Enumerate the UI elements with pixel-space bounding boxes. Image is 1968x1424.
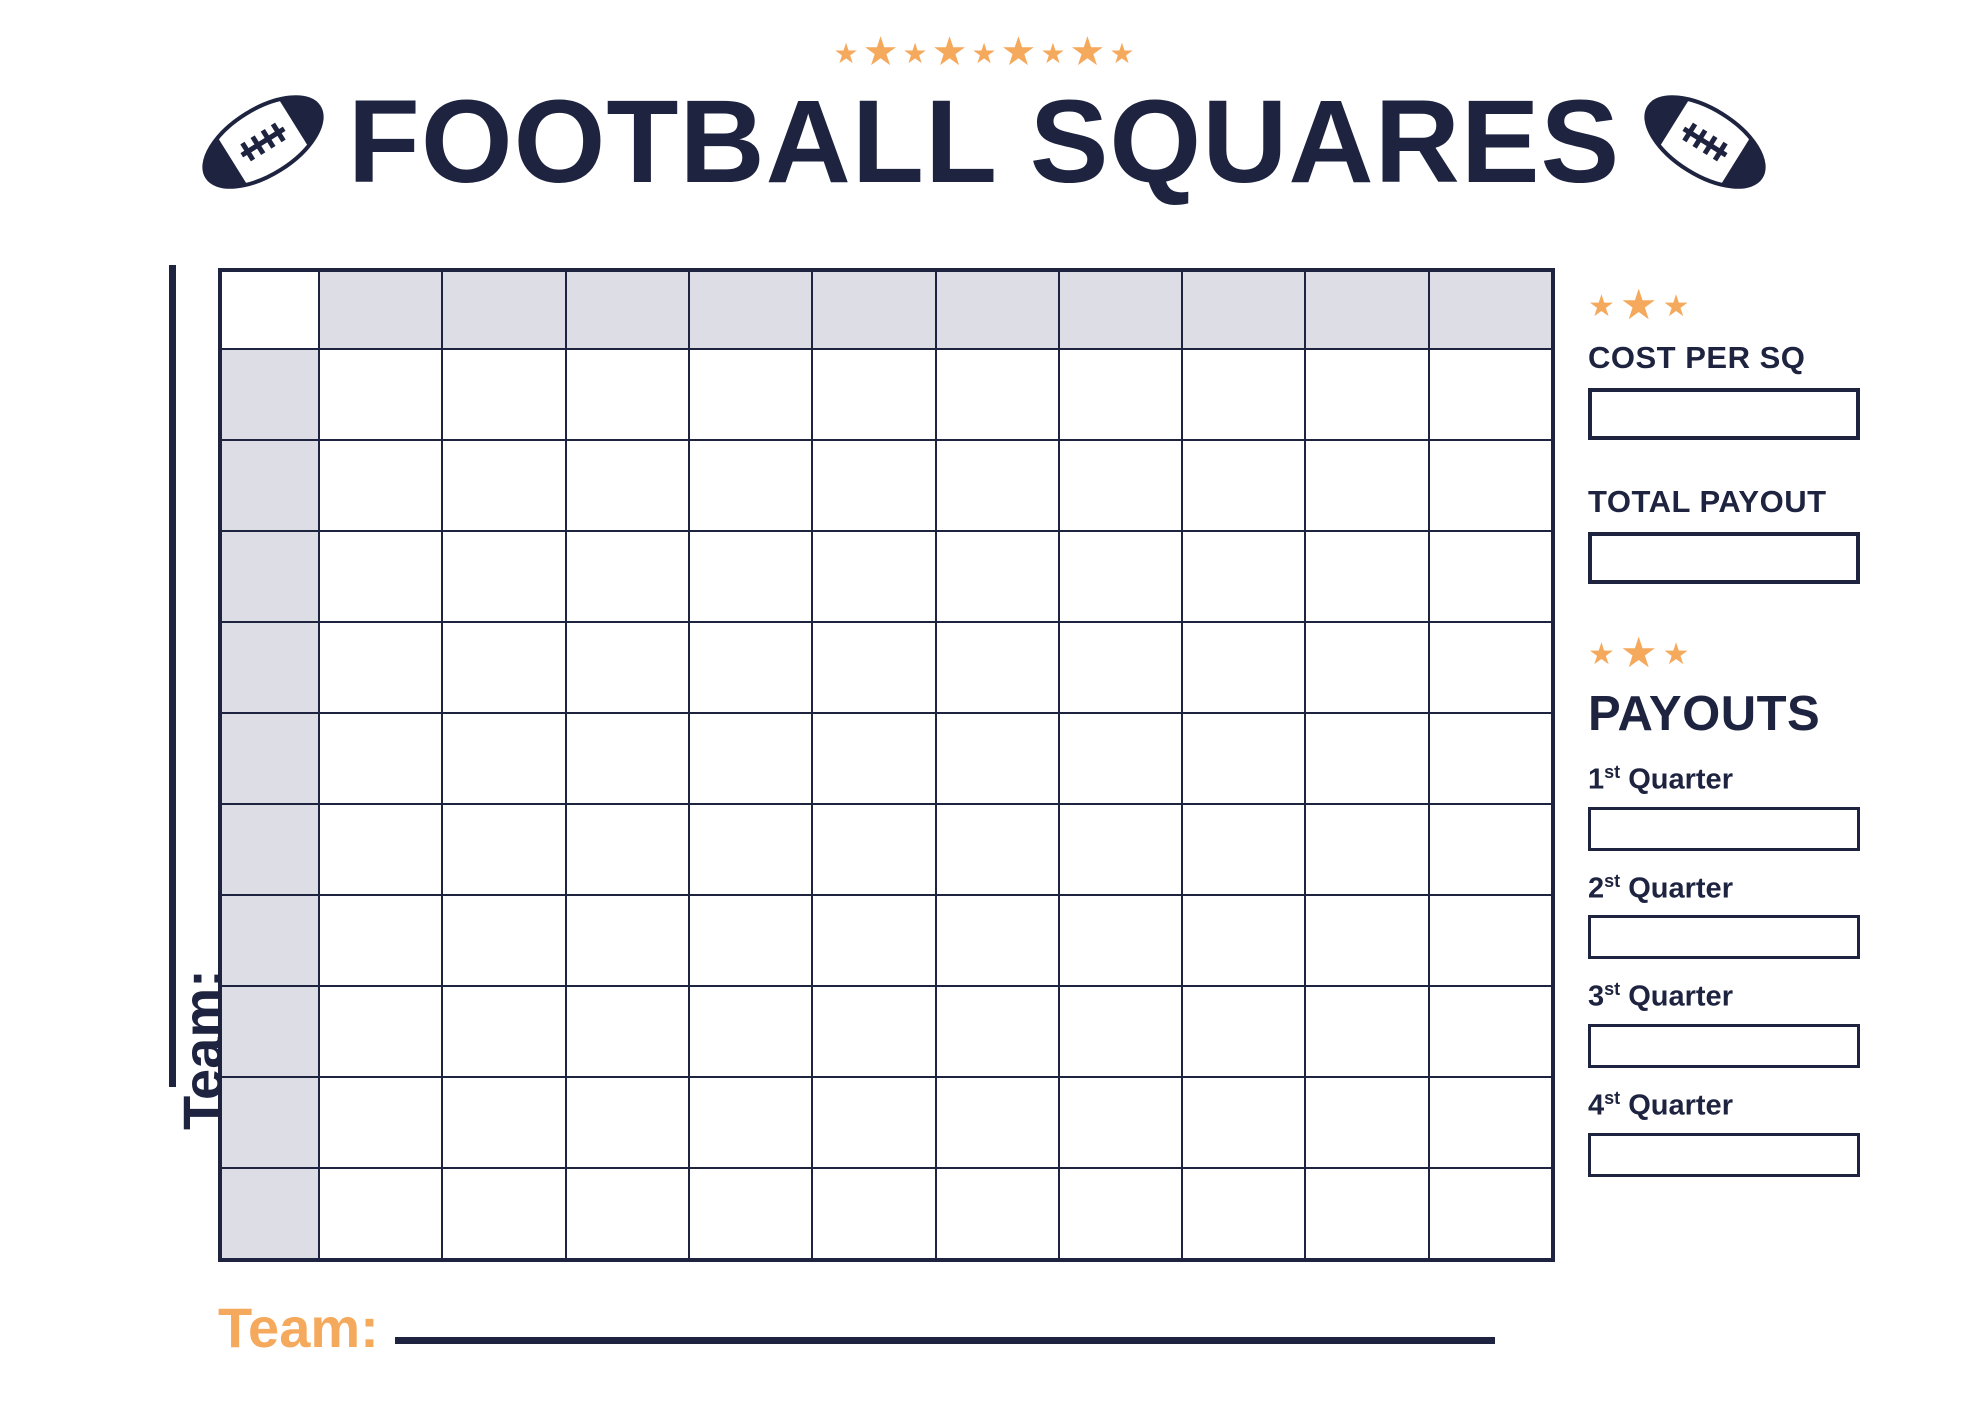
payouts-title: PAYOUTS	[1588, 688, 1888, 742]
grid-square[interactable]	[1306, 987, 1427, 1076]
grid-square[interactable]	[690, 896, 811, 985]
quarter-2-word: Quarter	[1628, 872, 1733, 904]
grid-square[interactable]	[690, 1169, 811, 1258]
team-label-bottom-row: Team:	[218, 1300, 1495, 1356]
grid-square[interactable]	[443, 805, 564, 894]
team-bottom-write-line[interactable]	[395, 1337, 1495, 1344]
grid-square[interactable]	[1183, 896, 1304, 985]
grid-square[interactable]	[567, 532, 688, 621]
star-icon: ★	[1663, 640, 1690, 670]
quarter-4-label: 4st Quarter	[1588, 1088, 1888, 1123]
grid-square[interactable]	[937, 896, 1058, 985]
grid-square[interactable]	[1306, 623, 1427, 712]
quarter-4-ordinal: st	[1604, 1088, 1620, 1108]
quarter-4-word: Quarter	[1628, 1090, 1733, 1122]
grid-square[interactable]	[690, 1078, 811, 1167]
grid-square[interactable]	[813, 714, 934, 803]
grid-square[interactable]	[567, 441, 688, 530]
quarter-2-label: 2st Quarter	[1588, 871, 1888, 906]
grid-square[interactable]	[567, 896, 688, 985]
grid-square[interactable]	[1183, 1169, 1304, 1258]
grid-square[interactable]	[1183, 714, 1304, 803]
grid-col-header[interactable]	[567, 272, 688, 348]
grid-square[interactable]	[443, 441, 564, 530]
grid-square[interactable]	[1060, 714, 1181, 803]
star-icon: ★	[1109, 40, 1134, 68]
grid-row-header[interactable]	[222, 805, 318, 894]
grid-square[interactable]	[320, 441, 441, 530]
grid-square[interactable]	[1430, 805, 1551, 894]
grid-square[interactable]	[937, 623, 1058, 712]
grid-row-header[interactable]	[222, 623, 318, 712]
grid-square[interactable]	[1060, 896, 1181, 985]
cost-per-sq-field[interactable]	[1588, 388, 1860, 440]
grid-square[interactable]	[567, 350, 688, 439]
quarter-2-number: 2	[1588, 872, 1604, 904]
star-icon: ★	[1588, 292, 1615, 322]
grid-square[interactable]	[1430, 714, 1551, 803]
grid-col-header[interactable]	[1430, 272, 1551, 348]
grid-square[interactable]	[1430, 1169, 1551, 1258]
grid-square[interactable]	[1183, 532, 1304, 621]
grid-square[interactable]	[1060, 805, 1181, 894]
grid-square[interactable]	[1183, 623, 1304, 712]
cost-per-sq-label: COST PER SQ	[1588, 340, 1888, 376]
grid-square[interactable]	[690, 623, 811, 712]
grid-square[interactable]	[1183, 987, 1304, 1076]
star-trio-top: ★ ★ ★	[1588, 288, 1888, 326]
grid-square[interactable]	[1430, 350, 1551, 439]
grid-square[interactable]	[690, 987, 811, 1076]
grid-col-header[interactable]	[1306, 272, 1427, 348]
side-panel: ★ ★ ★ COST PER SQ TOTAL PAYOUT ★ ★ ★ PAY…	[1588, 288, 1888, 1177]
grid-square[interactable]	[1060, 1169, 1181, 1258]
grid-row-header[interactable]	[222, 714, 318, 803]
quarter-1-ordinal: st	[1604, 762, 1620, 782]
grid-square[interactable]	[937, 1078, 1058, 1167]
grid-square[interactable]	[567, 1169, 688, 1258]
grid-square[interactable]	[443, 714, 564, 803]
quarter-3-number: 3	[1588, 981, 1604, 1013]
grid-row-header[interactable]	[222, 987, 318, 1076]
grid-square[interactable]	[937, 987, 1058, 1076]
grid-square[interactable]	[937, 714, 1058, 803]
grid-square[interactable]	[1060, 987, 1181, 1076]
grid-square[interactable]	[567, 987, 688, 1076]
quarter-2-field[interactable]	[1588, 915, 1860, 959]
grid-square[interactable]	[813, 1169, 934, 1258]
star-icon: ★	[932, 32, 968, 72]
grid-square[interactable]	[1306, 350, 1427, 439]
grid-square[interactable]	[320, 896, 441, 985]
grid-square[interactable]	[1430, 532, 1551, 621]
grid-square[interactable]	[567, 623, 688, 712]
quarter-3-label: 3st Quarter	[1588, 979, 1888, 1014]
grid-square[interactable]	[1306, 714, 1427, 803]
grid-square[interactable]	[443, 896, 564, 985]
grid-square[interactable]	[1306, 1169, 1427, 1258]
top-star-row: ★ ★ ★ ★ ★ ★ ★ ★ ★	[0, 36, 1968, 72]
total-payout-label: TOTAL PAYOUT	[1588, 484, 1888, 520]
grid-square[interactable]	[937, 441, 1058, 530]
star-icon: ★	[863, 32, 899, 72]
star-trio-payouts: ★ ★ ★	[1588, 636, 1888, 674]
grid-square[interactable]	[813, 1078, 934, 1167]
grid-square[interactable]	[690, 350, 811, 439]
team-label-bottom: Team:	[218, 1300, 379, 1356]
grid-square[interactable]	[937, 350, 1058, 439]
grid-square[interactable]	[443, 623, 564, 712]
grid-square[interactable]	[1306, 805, 1427, 894]
star-icon: ★	[1070, 32, 1106, 72]
grid-square[interactable]	[320, 714, 441, 803]
grid-square[interactable]	[1430, 987, 1551, 1076]
total-payout-field[interactable]	[1588, 532, 1860, 584]
grid-square[interactable]	[1430, 623, 1551, 712]
grid-square[interactable]	[1430, 896, 1551, 985]
grid-square[interactable]	[320, 1078, 441, 1167]
grid-square[interactable]	[690, 714, 811, 803]
grid-col-header[interactable]	[443, 272, 564, 348]
grid-square[interactable]	[813, 896, 934, 985]
quarter-1-field[interactable]	[1588, 807, 1860, 851]
grid-square[interactable]	[1060, 350, 1181, 439]
star-icon: ★	[834, 40, 859, 68]
quarter-1-number: 1	[1588, 764, 1604, 796]
grid-col-header[interactable]	[320, 272, 441, 348]
grid-square[interactable]	[690, 441, 811, 530]
grid-col-header[interactable]	[1183, 272, 1304, 348]
star-icon: ★	[902, 40, 927, 68]
grid-square[interactable]	[813, 623, 934, 712]
grid-row-header[interactable]	[222, 1078, 318, 1167]
quarter-3-word: Quarter	[1628, 981, 1733, 1013]
page-title: FOOTBALL SQUARES	[348, 83, 1621, 201]
grid-square[interactable]	[937, 1169, 1058, 1258]
grid-row-header[interactable]	[222, 1169, 318, 1258]
star-icon: ★	[1663, 292, 1690, 322]
grid-square[interactable]	[320, 987, 441, 1076]
grid-square[interactable]	[813, 987, 934, 1076]
quarter-4-number: 4	[1588, 1090, 1604, 1122]
grid-square[interactable]	[443, 532, 564, 621]
grid-col-header[interactable]	[690, 272, 811, 348]
football-icon	[1630, 82, 1780, 202]
star-icon: ★	[1040, 40, 1065, 68]
grid-square[interactable]	[443, 987, 564, 1076]
football-icon	[188, 82, 338, 202]
grid-square[interactable]	[813, 805, 934, 894]
grid-square[interactable]	[1060, 1078, 1181, 1167]
grid-square[interactable]	[567, 805, 688, 894]
grid-square[interactable]	[1306, 441, 1427, 530]
grid-square[interactable]	[1060, 532, 1181, 621]
grid-square[interactable]	[813, 441, 934, 530]
star-icon: ★	[1588, 640, 1615, 670]
squares-grid[interactable]	[218, 268, 1555, 1262]
grid-square[interactable]	[443, 1078, 564, 1167]
quarter-4-field[interactable]	[1588, 1133, 1860, 1177]
grid-square[interactable]	[937, 805, 1058, 894]
grid-square[interactable]	[1183, 805, 1304, 894]
grid-square[interactable]	[320, 350, 441, 439]
quarter-2-ordinal: st	[1604, 871, 1620, 891]
grid-square[interactable]	[1183, 350, 1304, 439]
star-icon: ★	[1620, 284, 1658, 326]
grid-row-header[interactable]	[222, 441, 318, 530]
grid-square[interactable]	[320, 805, 441, 894]
grid-square[interactable]	[690, 805, 811, 894]
grid-square[interactable]	[320, 532, 441, 621]
star-icon: ★	[1001, 32, 1037, 72]
grid-square[interactable]	[567, 1078, 688, 1167]
star-icon: ★	[971, 40, 996, 68]
grid-col-header[interactable]	[937, 272, 1058, 348]
grid-square[interactable]	[567, 714, 688, 803]
quarter-1-label: 1st Quarter	[1588, 762, 1888, 797]
quarter-3-field[interactable]	[1588, 1024, 1860, 1068]
grid-square[interactable]	[320, 1169, 441, 1258]
grid-square[interactable]	[320, 623, 441, 712]
grid-square[interactable]	[1430, 441, 1551, 530]
grid-square[interactable]	[1306, 896, 1427, 985]
star-icon: ★	[1620, 632, 1658, 674]
grid-square[interactable]	[1060, 441, 1181, 530]
grid-square[interactable]	[813, 532, 934, 621]
grid-row-header[interactable]	[222, 532, 318, 621]
quarter-3-ordinal: st	[1604, 979, 1620, 999]
grid-square[interactable]	[443, 350, 564, 439]
squares-grid-container	[218, 268, 1555, 1262]
quarter-1-word: Quarter	[1628, 764, 1733, 796]
grid-square[interactable]	[1060, 623, 1181, 712]
grid-square[interactable]	[443, 1169, 564, 1258]
grid-row-header[interactable]	[222, 896, 318, 985]
grid-square[interactable]	[1183, 441, 1304, 530]
grid-square[interactable]	[813, 350, 934, 439]
grid-square[interactable]	[937, 532, 1058, 621]
grid-col-header[interactable]	[1060, 272, 1181, 348]
grid-square[interactable]	[1306, 532, 1427, 621]
grid-square[interactable]	[1306, 1078, 1427, 1167]
grid-square[interactable]	[690, 532, 811, 621]
title-row: FOOTBALL SQUARES	[0, 72, 1968, 212]
grid-row-header[interactable]	[222, 350, 318, 439]
grid-square[interactable]	[1430, 1078, 1551, 1167]
grid-square[interactable]	[1183, 1078, 1304, 1167]
grid-col-header[interactable]	[813, 272, 934, 348]
grid-corner-cell	[222, 272, 318, 348]
football-squares-page: ★ ★ ★ ★ ★ ★ ★ ★ ★ FOOTBALL SQUARES	[0, 0, 1968, 1424]
